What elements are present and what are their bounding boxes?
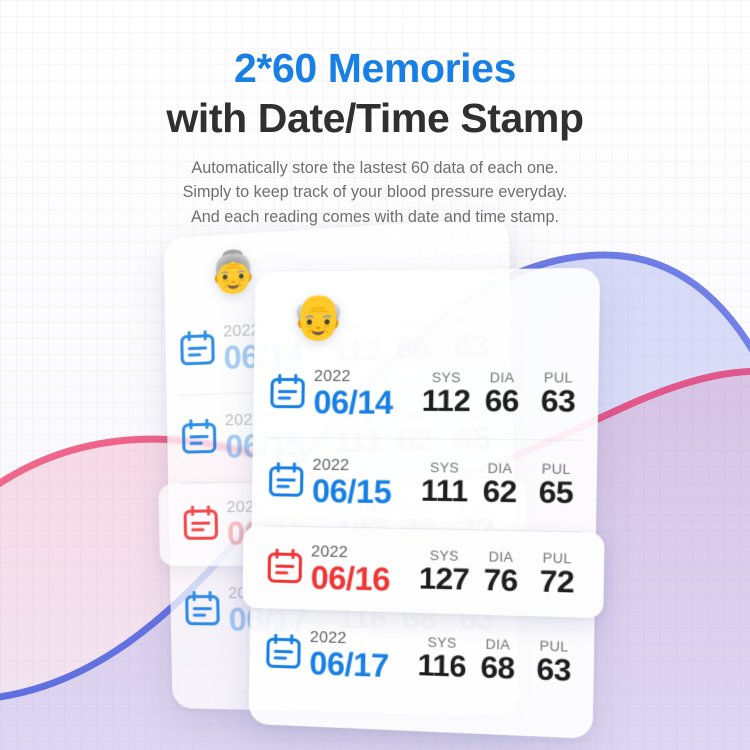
metric-value-diastolic: 76 [476, 565, 525, 598]
date-year: 2022 [314, 369, 394, 385]
calendar-icon [182, 588, 223, 628]
calendar-icon [177, 327, 218, 374]
date-block: 202206/14 [267, 369, 422, 419]
calendar-icon [177, 327, 218, 369]
calendar-icon [267, 371, 308, 416]
metric-diastolic: DIA62 [475, 461, 524, 510]
memory-card-front[interactable]: 👴 202206/14SYS112DIA66PUL63202206/15SYS1… [248, 268, 600, 739]
date-text: 202206/16 [311, 544, 391, 596]
metric-pulse: PUL65 [531, 461, 581, 510]
header-block: 2*60 Memories with Date/Time Stamp Autom… [0, 0, 750, 230]
metrics-group: SYS127DIA76PUL72 [419, 547, 584, 599]
date-month-day: 06/15 [312, 475, 392, 509]
calendar-icon-highlight [180, 502, 221, 548]
calendar-icon [179, 416, 220, 462]
date-text: 202206/14 [313, 369, 393, 419]
older-woman-emoji-icon: 👵 [208, 251, 259, 294]
reading-row[interactable]: 202206/17SYS116DIA68PUL63 [263, 608, 580, 709]
reading-row[interactable]: 202206/15SYS111DIA62PUL65 [265, 438, 582, 532]
date-text: 202206/15 [312, 458, 392, 509]
metric-diastolic: DIA76 [476, 549, 525, 598]
date-block: 202206/16 [264, 543, 419, 596]
calendar-icon-highlight [264, 545, 305, 591]
metric-diastolic: DIA66 [477, 370, 526, 418]
metric-value-pulse: 65 [531, 478, 581, 510]
metric-systolic: SYS116 [417, 634, 466, 683]
page-title-line1: 2*60 Memories [0, 44, 750, 92]
metrics-group: SYS112DIA66PUL63 [421, 370, 585, 419]
calendar-icon [267, 371, 308, 411]
date-month-day: 06/14 [313, 386, 393, 419]
date-block: 202206/15 [266, 457, 421, 509]
metric-systolic: SYS127 [419, 547, 470, 596]
metric-label-diastolic: DIA [478, 370, 527, 386]
subtitle-line-3: And each reading comes with date and tim… [0, 205, 750, 230]
older-man-emoji-icon: 👴 [290, 295, 346, 340]
calendar-icon [263, 630, 304, 672]
metrics-group: SYS116DIA68PUL63 [417, 634, 581, 688]
metric-value-systolic: 127 [419, 564, 470, 597]
subtitle-block: Automatically store the lastest 60 data … [0, 156, 750, 230]
date-month-day: 06/17 [309, 646, 389, 681]
calendar-icon [182, 588, 223, 633]
metric-pulse: PUL63 [533, 370, 583, 418]
metrics-group: SYS111DIA62PUL65 [420, 460, 583, 510]
reading-row[interactable]: 202206/16SYS127DIA76PUL72 [242, 526, 604, 618]
metric-value-diastolic: 68 [473, 652, 522, 685]
page-title-line2: with Date/Time Stamp [0, 94, 750, 142]
calendar-icon [265, 545, 306, 586]
calendar-icon [179, 416, 220, 457]
date-month-day: 06/16 [311, 561, 391, 595]
metric-systolic: SYS112 [421, 370, 470, 418]
metric-value-pulse: 63 [533, 387, 583, 419]
subtitle-line-1: Automatically store the lastest 60 data … [0, 156, 750, 181]
metric-value-systolic: 111 [420, 476, 468, 508]
metric-value-pulse: 63 [529, 654, 579, 687]
date-block: 202206/17 [263, 628, 418, 683]
promo-graphic: 2*60 Memories with Date/Time Stamp Autom… [0, 0, 750, 750]
calendar-icon [180, 502, 221, 543]
metric-label-pulse: PUL [534, 370, 583, 386]
date-text: 202206/17 [309, 629, 389, 681]
metric-value-pulse: 72 [532, 566, 582, 599]
metric-value-diastolic: 62 [475, 477, 524, 509]
metric-value-diastolic: 66 [477, 387, 526, 419]
metric-pulse: PUL72 [532, 550, 582, 600]
metric-label-systolic: SYS [422, 370, 471, 385]
subtitle-line-2: Simply to keep track of your blood press… [0, 180, 750, 205]
metric-value-systolic: 116 [417, 650, 466, 683]
reading-row[interactable]: 202206/14SYS112DIA66PUL63 [267, 349, 584, 441]
metric-pulse: PUL63 [529, 638, 579, 688]
calendar-icon [263, 630, 304, 677]
calendar-icon [266, 459, 307, 505]
metric-value-systolic: 112 [421, 387, 470, 419]
calendar-icon [266, 459, 307, 500]
metric-diastolic: DIA68 [473, 636, 522, 686]
reading-list-front: 202206/14SYS112DIA66PUL63202206/15SYS111… [249, 349, 599, 710]
metric-systolic: SYS111 [420, 460, 469, 508]
